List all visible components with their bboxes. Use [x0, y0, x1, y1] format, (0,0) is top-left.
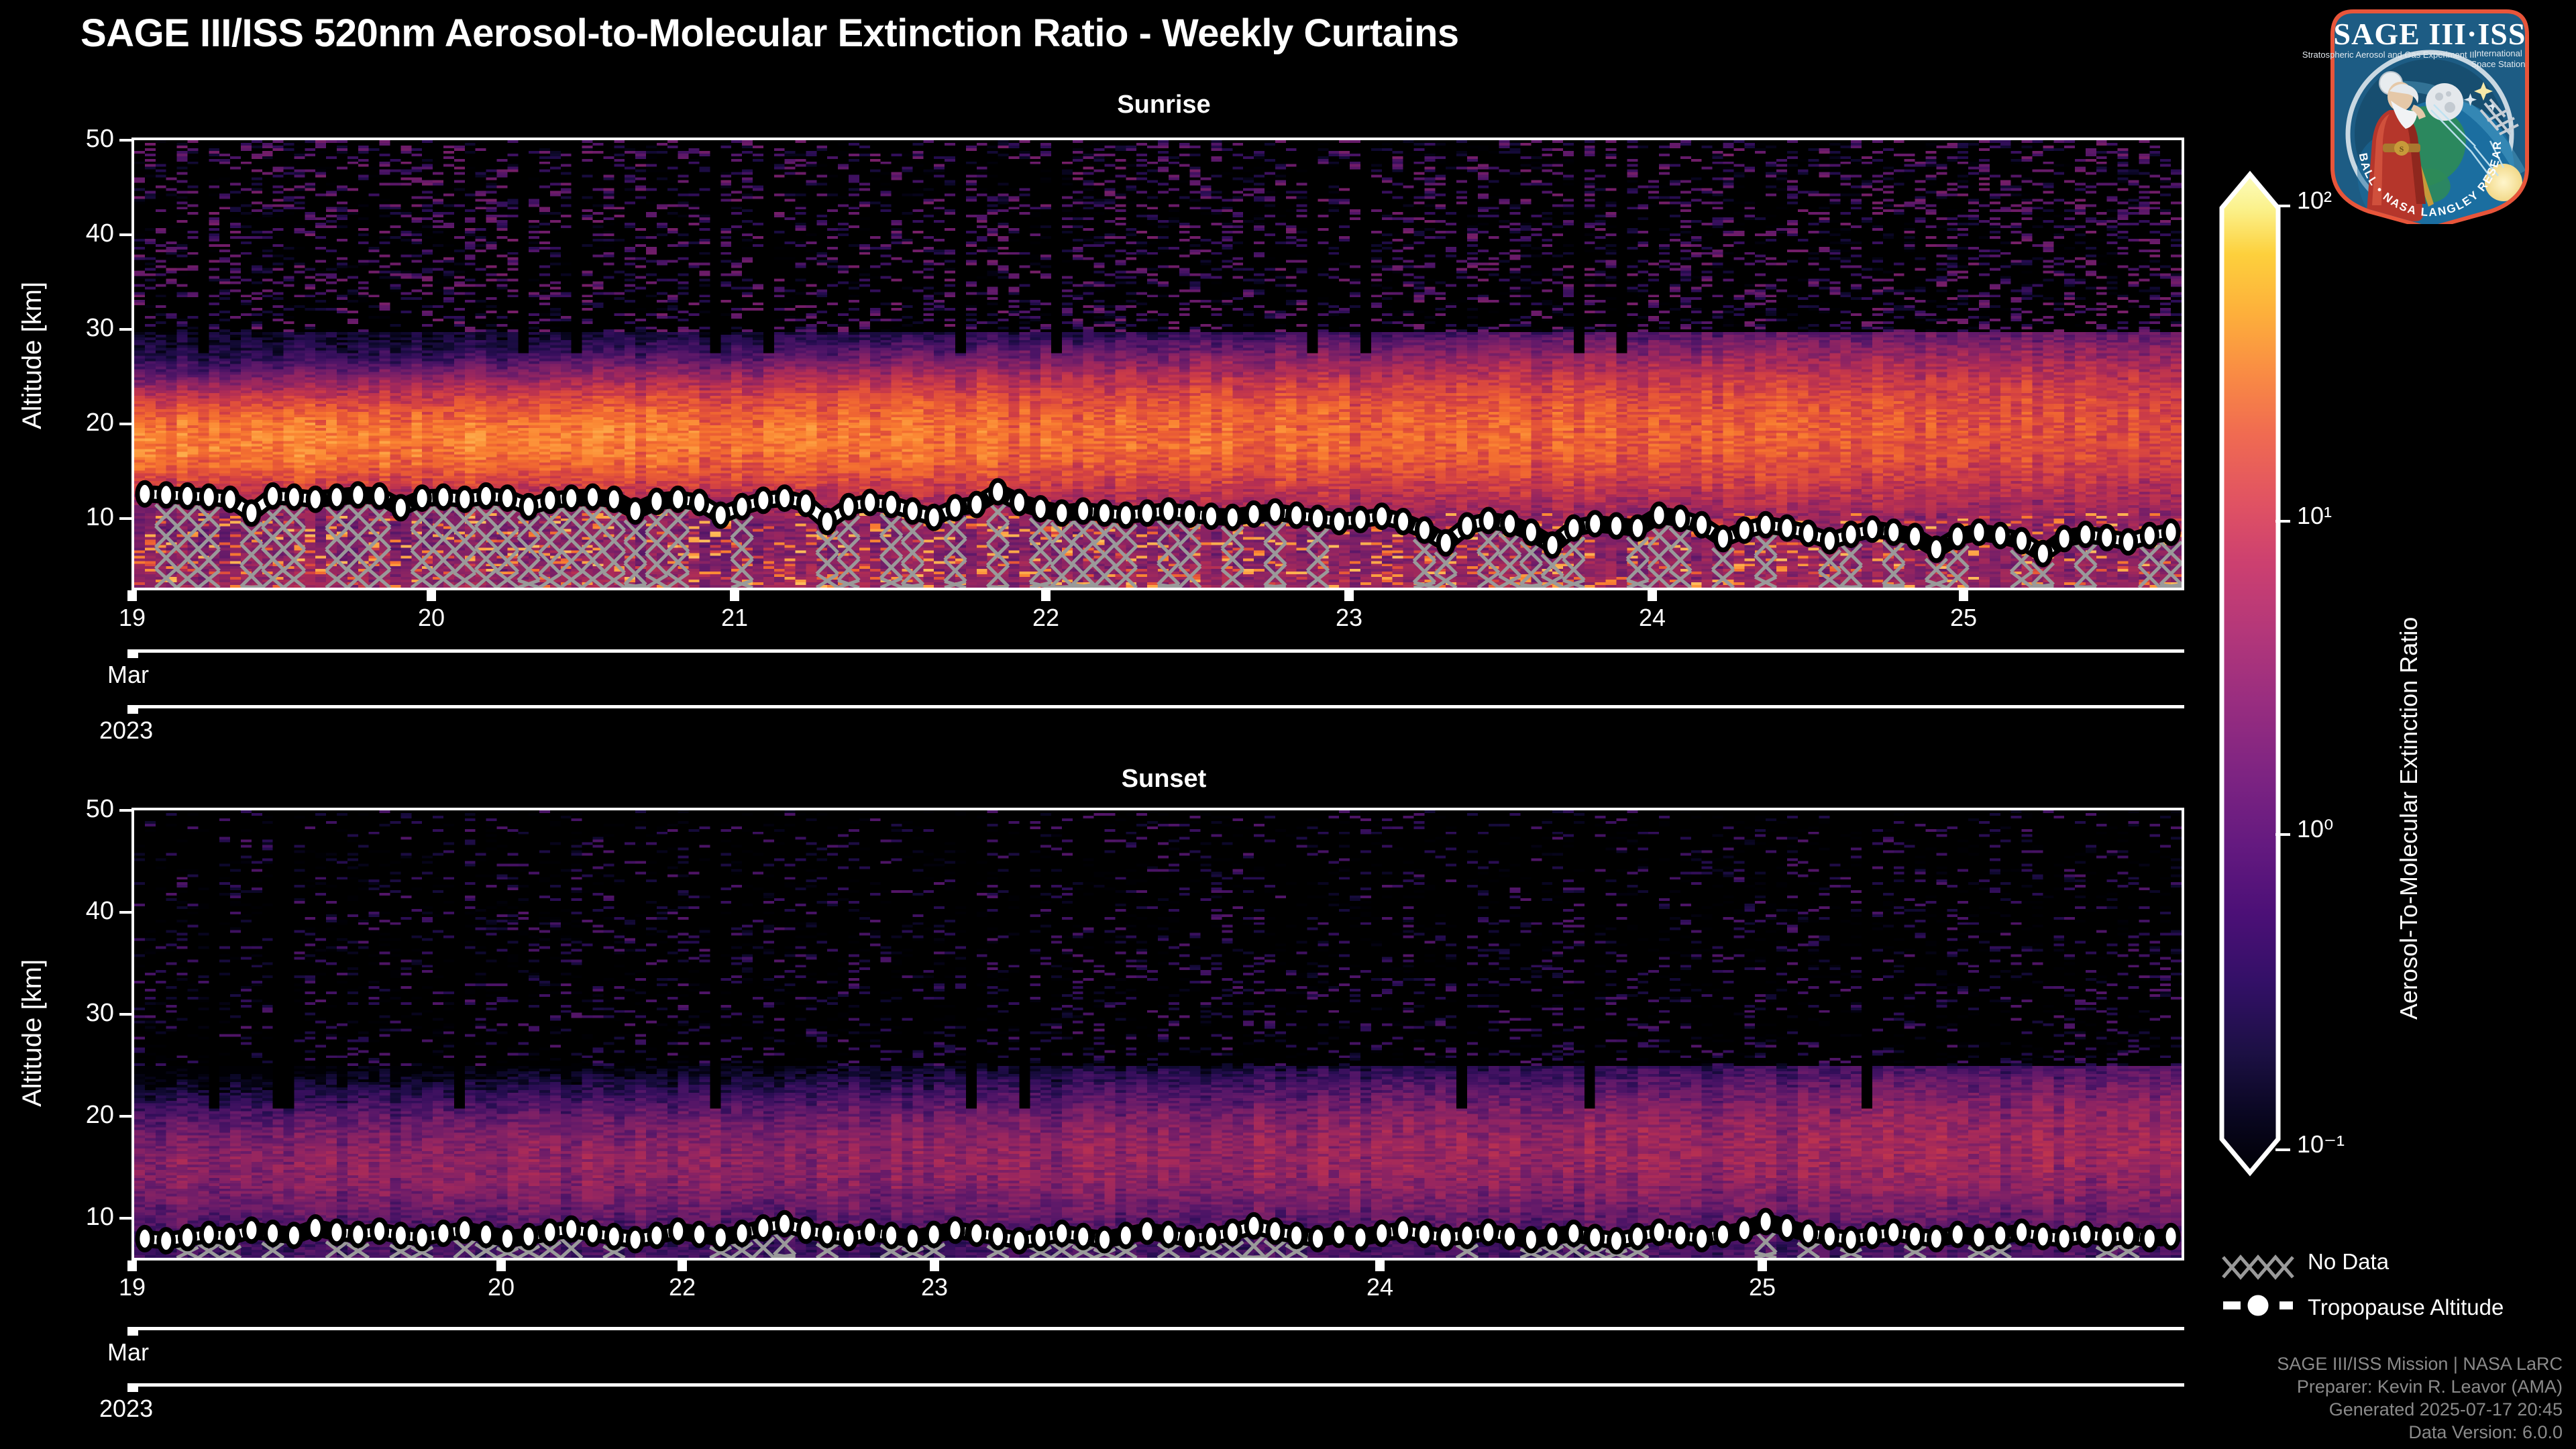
y-tickmark	[119, 809, 131, 812]
x-tick-sunrise-3: 22	[1006, 604, 1086, 632]
x-tickmark	[127, 1260, 137, 1271]
colorbar-tickmark	[2275, 205, 2290, 207]
x-tick-sunset-4: 24	[1340, 1273, 1420, 1301]
y-tickmark	[119, 1115, 131, 1118]
logo-subtitle-right-2: Space Station	[2471, 59, 2526, 69]
date-spine-month-sunrise	[131, 649, 2184, 653]
x-tickmark	[1344, 590, 1354, 601]
x-tickmark	[730, 590, 739, 601]
x-tick-sunset-1: 20	[461, 1273, 541, 1301]
y-tickmark	[119, 911, 131, 914]
x-tick-sunset-3: 23	[894, 1273, 975, 1301]
y-axis-label-sunrise: Altitude [km]	[17, 282, 48, 429]
x-tickmark	[1375, 1260, 1385, 1271]
y-tick-sunrise-50: 50	[40, 125, 114, 154]
legend-label-tropopause: Tropopause Altitude	[2308, 1295, 2504, 1320]
y-tickmark	[119, 517, 131, 520]
footer-line-2: Preparer: Kevin R. Leavor (AMA)	[1905, 1377, 2563, 1397]
x-tick-sunrise-1: 20	[391, 604, 472, 632]
y-tickmark	[119, 328, 131, 331]
x-tickmark	[127, 590, 137, 601]
x-tick-sunset-0: 19	[92, 1273, 172, 1301]
logo-subtitle-right-1: International	[2474, 48, 2522, 58]
footer-line-4: Data Version: 6.0.0	[1905, 1422, 2563, 1443]
legend-label-no-data: No Data	[2308, 1249, 2389, 1275]
y-tickmark	[119, 1013, 131, 1016]
x-tick-sunrise-4: 23	[1309, 604, 1389, 632]
date-spine-tick	[127, 1383, 138, 1392]
colorbar-tickmark	[2275, 833, 2290, 836]
logo-title: SAGE III·ISS	[2334, 17, 2526, 51]
colorbar-gradient	[2222, 174, 2278, 1173]
x-tick-sunset-2: 22	[642, 1273, 722, 1301]
x-tickmark	[678, 1260, 687, 1271]
y-tick-sunrise-30: 30	[40, 314, 114, 343]
year-label-sunrise: 2023	[99, 716, 153, 745]
y-tick-sunrise-10: 10	[40, 503, 114, 532]
y-tick-sunset-20: 20	[40, 1101, 114, 1130]
colorbar-tick-1e1: 10¹	[2297, 502, 2332, 530]
x-tick-sunrise-2: 21	[694, 604, 775, 632]
footer-line-1: SAGE III/ISS Mission | NASA LaRC	[1905, 1354, 2563, 1375]
month-label-sunset: Mar	[107, 1338, 149, 1366]
x-tick-sunset-5: 25	[1722, 1273, 1803, 1301]
no-data-icon	[2223, 1257, 2293, 1277]
x-tickmark	[930, 1260, 939, 1271]
panel-title-sunset: Sunset	[114, 765, 2214, 794]
x-tickmark	[1758, 1260, 1767, 1271]
date-spine-tick	[127, 649, 138, 658]
logo-subtitle-left: Stratospheric Aerosol and Gas Experiment…	[2302, 50, 2477, 60]
colorbar-label: Aerosol-To-Molecular Extinction Ratio	[2395, 617, 2423, 1020]
date-spine-year-sunset	[131, 1383, 2184, 1387]
year-label-sunset: 2023	[99, 1395, 153, 1423]
colorbar-tickmark	[2275, 520, 2290, 523]
x-tick-sunrise-5: 24	[1612, 604, 1693, 632]
svg-text:S: S	[2400, 144, 2404, 154]
colorbar-tick-1em1: 10⁻¹	[2297, 1130, 2345, 1159]
y-tick-sunset-10: 10	[40, 1203, 114, 1232]
y-tickmark	[119, 1217, 131, 1220]
y-tick-sunset-50: 50	[40, 795, 114, 824]
x-tickmark	[1041, 590, 1051, 601]
colorbar-tickmark	[2275, 1148, 2290, 1151]
x-tickmark	[1648, 590, 1657, 601]
heatmap-panel-sunset[interactable]	[131, 808, 2184, 1260]
colorbar[interactable]	[2212, 168, 2293, 1201]
x-tick-sunrise-6: 25	[1923, 604, 2004, 632]
date-spine-tick	[127, 1327, 138, 1336]
panel-title-sunrise: Sunrise	[114, 91, 2214, 119]
tropopause-marker-icon	[2223, 1294, 2293, 1317]
y-tick-sunrise-20: 20	[40, 409, 114, 437]
x-tickmark	[427, 590, 436, 601]
date-spine-tick	[127, 705, 138, 714]
date-spine-month-sunset	[131, 1327, 2184, 1330]
month-label-sunrise: Mar	[107, 661, 149, 689]
y-axis-label-sunset: Altitude [km]	[17, 959, 48, 1107]
y-tickmark	[119, 139, 131, 142]
x-tickmark	[1959, 590, 1968, 601]
colorbar-tick-1e2: 10²	[2297, 186, 2332, 215]
y-tickmark	[119, 423, 131, 425]
y-tick-sunset-40: 40	[40, 897, 114, 926]
x-tick-sunrise-0: 19	[92, 604, 172, 632]
footer-line-3: Generated 2025-07-17 20:45	[1905, 1399, 2563, 1420]
y-tick-sunset-30: 30	[40, 999, 114, 1028]
page-title: SAGE III/ISS 520nm Aerosol-to-Molecular …	[80, 11, 1892, 55]
date-spine-year-sunrise	[131, 705, 2184, 708]
colorbar-tick-1e0: 10⁰	[2297, 815, 2333, 843]
x-tickmark	[496, 1260, 506, 1271]
y-tickmark	[119, 233, 131, 236]
y-tick-sunrise-40: 40	[40, 219, 114, 248]
heatmap-panel-sunrise[interactable]	[131, 138, 2184, 590]
